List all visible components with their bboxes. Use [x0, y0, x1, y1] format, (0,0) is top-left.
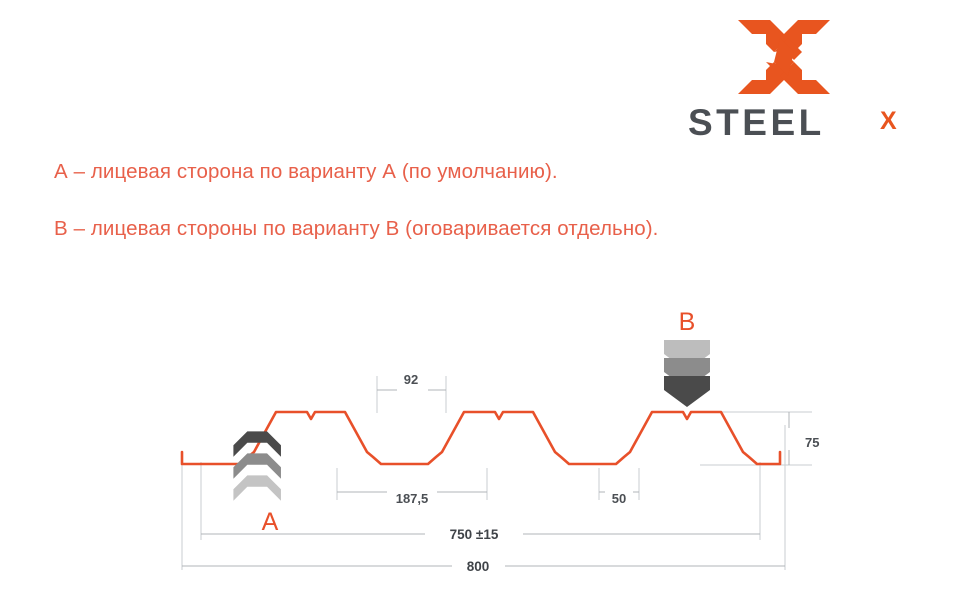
- marker-b-chevron-3: [664, 376, 710, 407]
- dimension-label-800: 800: [467, 559, 490, 574]
- marker-a-label: А: [262, 508, 279, 536]
- profile-technical-drawing: 92 75 187,5 50 750 ±15 800 А В: [0, 0, 970, 597]
- marker-a-chevron-2: [233, 453, 281, 478]
- marker-a-chevron-3: [233, 475, 281, 500]
- dimension-label-187-5: 187,5: [396, 491, 429, 506]
- marker-b: В: [664, 308, 710, 407]
- marker-b-label: В: [679, 308, 696, 336]
- drawing-page: STEEL X А – лицевая сторона по варианту …: [0, 0, 970, 597]
- dimension-label-92: 92: [404, 372, 418, 387]
- dimension-label-750: 750 ±15: [450, 527, 499, 542]
- dimension-label-50: 50: [612, 491, 626, 506]
- dimension-label-75: 75: [805, 435, 819, 450]
